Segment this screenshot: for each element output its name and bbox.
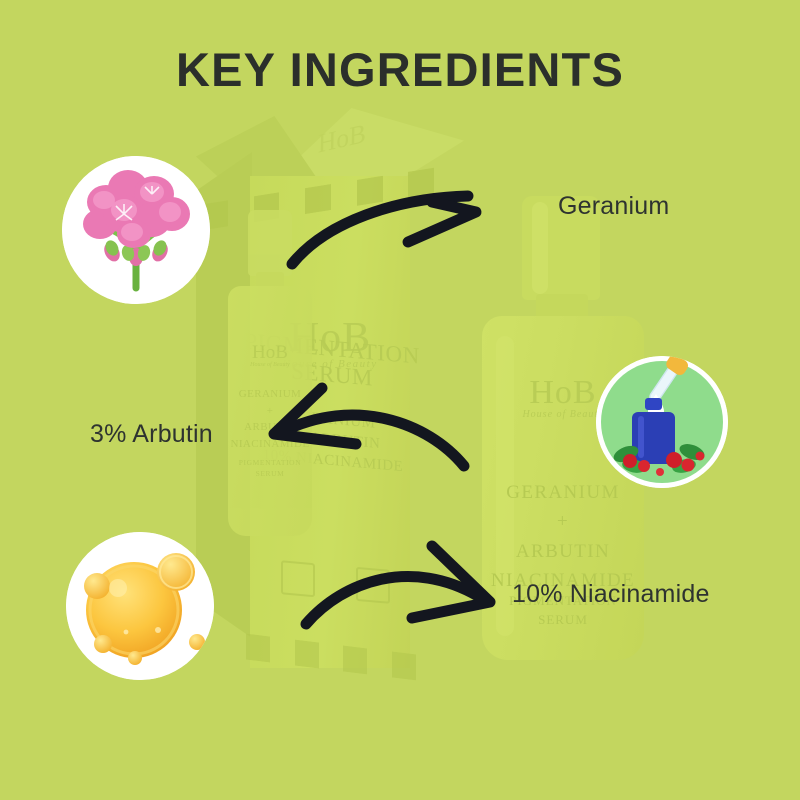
niacinamide-badge bbox=[596, 356, 728, 488]
arrow-to-geranium-icon bbox=[286, 186, 506, 276]
bottle-large-monogram-text: HoB bbox=[529, 374, 596, 411]
callout-label-geranium: Geranium bbox=[558, 192, 669, 221]
serum-dropper-icon bbox=[596, 356, 728, 488]
bottle-large-cap-highlight bbox=[532, 202, 548, 294]
arrow-to-niacinamide-icon bbox=[300, 536, 515, 634]
page-title: KEY INGREDIENTS bbox=[0, 44, 800, 96]
geranium-badge bbox=[62, 156, 210, 304]
callout-label-niacinamide: 10% Niacinamide bbox=[512, 580, 710, 609]
geranium-flower-icon bbox=[62, 156, 210, 304]
callout-label-arbutin: 3% Arbutin bbox=[90, 420, 213, 449]
arrow-to-arbutin-icon bbox=[260, 382, 470, 474]
oil-droplet-icon bbox=[66, 532, 214, 680]
bottle-small-monogram: HoB House of Beauty bbox=[228, 342, 312, 368]
bottle-large-line-1: GERANIUM bbox=[482, 478, 644, 507]
bottle-small-brand-script: House of Beauty bbox=[228, 362, 312, 368]
bottle-large-line-2: + bbox=[482, 507, 644, 536]
arbutin-badge bbox=[66, 532, 214, 680]
bottle-small-monogram-text: HoB bbox=[252, 342, 288, 363]
key-ingredients-graphic: KEY INGREDIENTS HoB HoB House of Beauty … bbox=[0, 0, 800, 800]
